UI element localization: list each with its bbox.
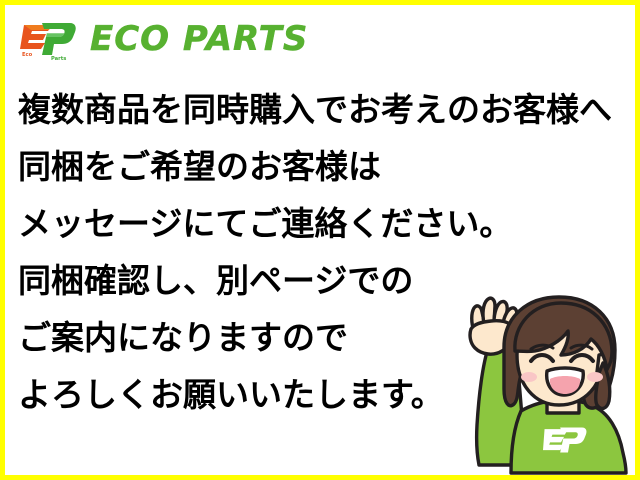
- ep-monogram-icon: [543, 428, 586, 453]
- eco-parts-notice-banner: Eco Parts ECO PARTS 複数商品を同時購入でお考えのお客様へ 同…: [0, 0, 640, 480]
- message-line-2: 同梱をご希望のお客様は: [18, 138, 618, 195]
- message-line-1: 複数商品を同時購入でお考えのお客様へ: [18, 81, 618, 138]
- ep-monogram-icon: Eco Parts: [18, 17, 80, 61]
- message-line-3: メッセージにてご連絡ください。: [18, 195, 618, 252]
- logo-subtext-parts: Parts: [51, 56, 66, 61]
- message-line-5: ご案内になりますので: [18, 309, 618, 366]
- brand-wordmark: ECO PARTS: [90, 22, 308, 56]
- notice-message: 複数商品を同時購入でお考えのお客様へ 同梱をご希望のお客様は メッセージにてご連…: [18, 81, 618, 423]
- brand-header: Eco Parts ECO PARTS: [18, 15, 308, 63]
- message-line-6: よろしくお願いいたします。: [18, 366, 618, 423]
- logo-subtext-eco: Eco: [22, 52, 33, 58]
- message-line-4: 同梱確認し、別ページでの: [18, 252, 618, 309]
